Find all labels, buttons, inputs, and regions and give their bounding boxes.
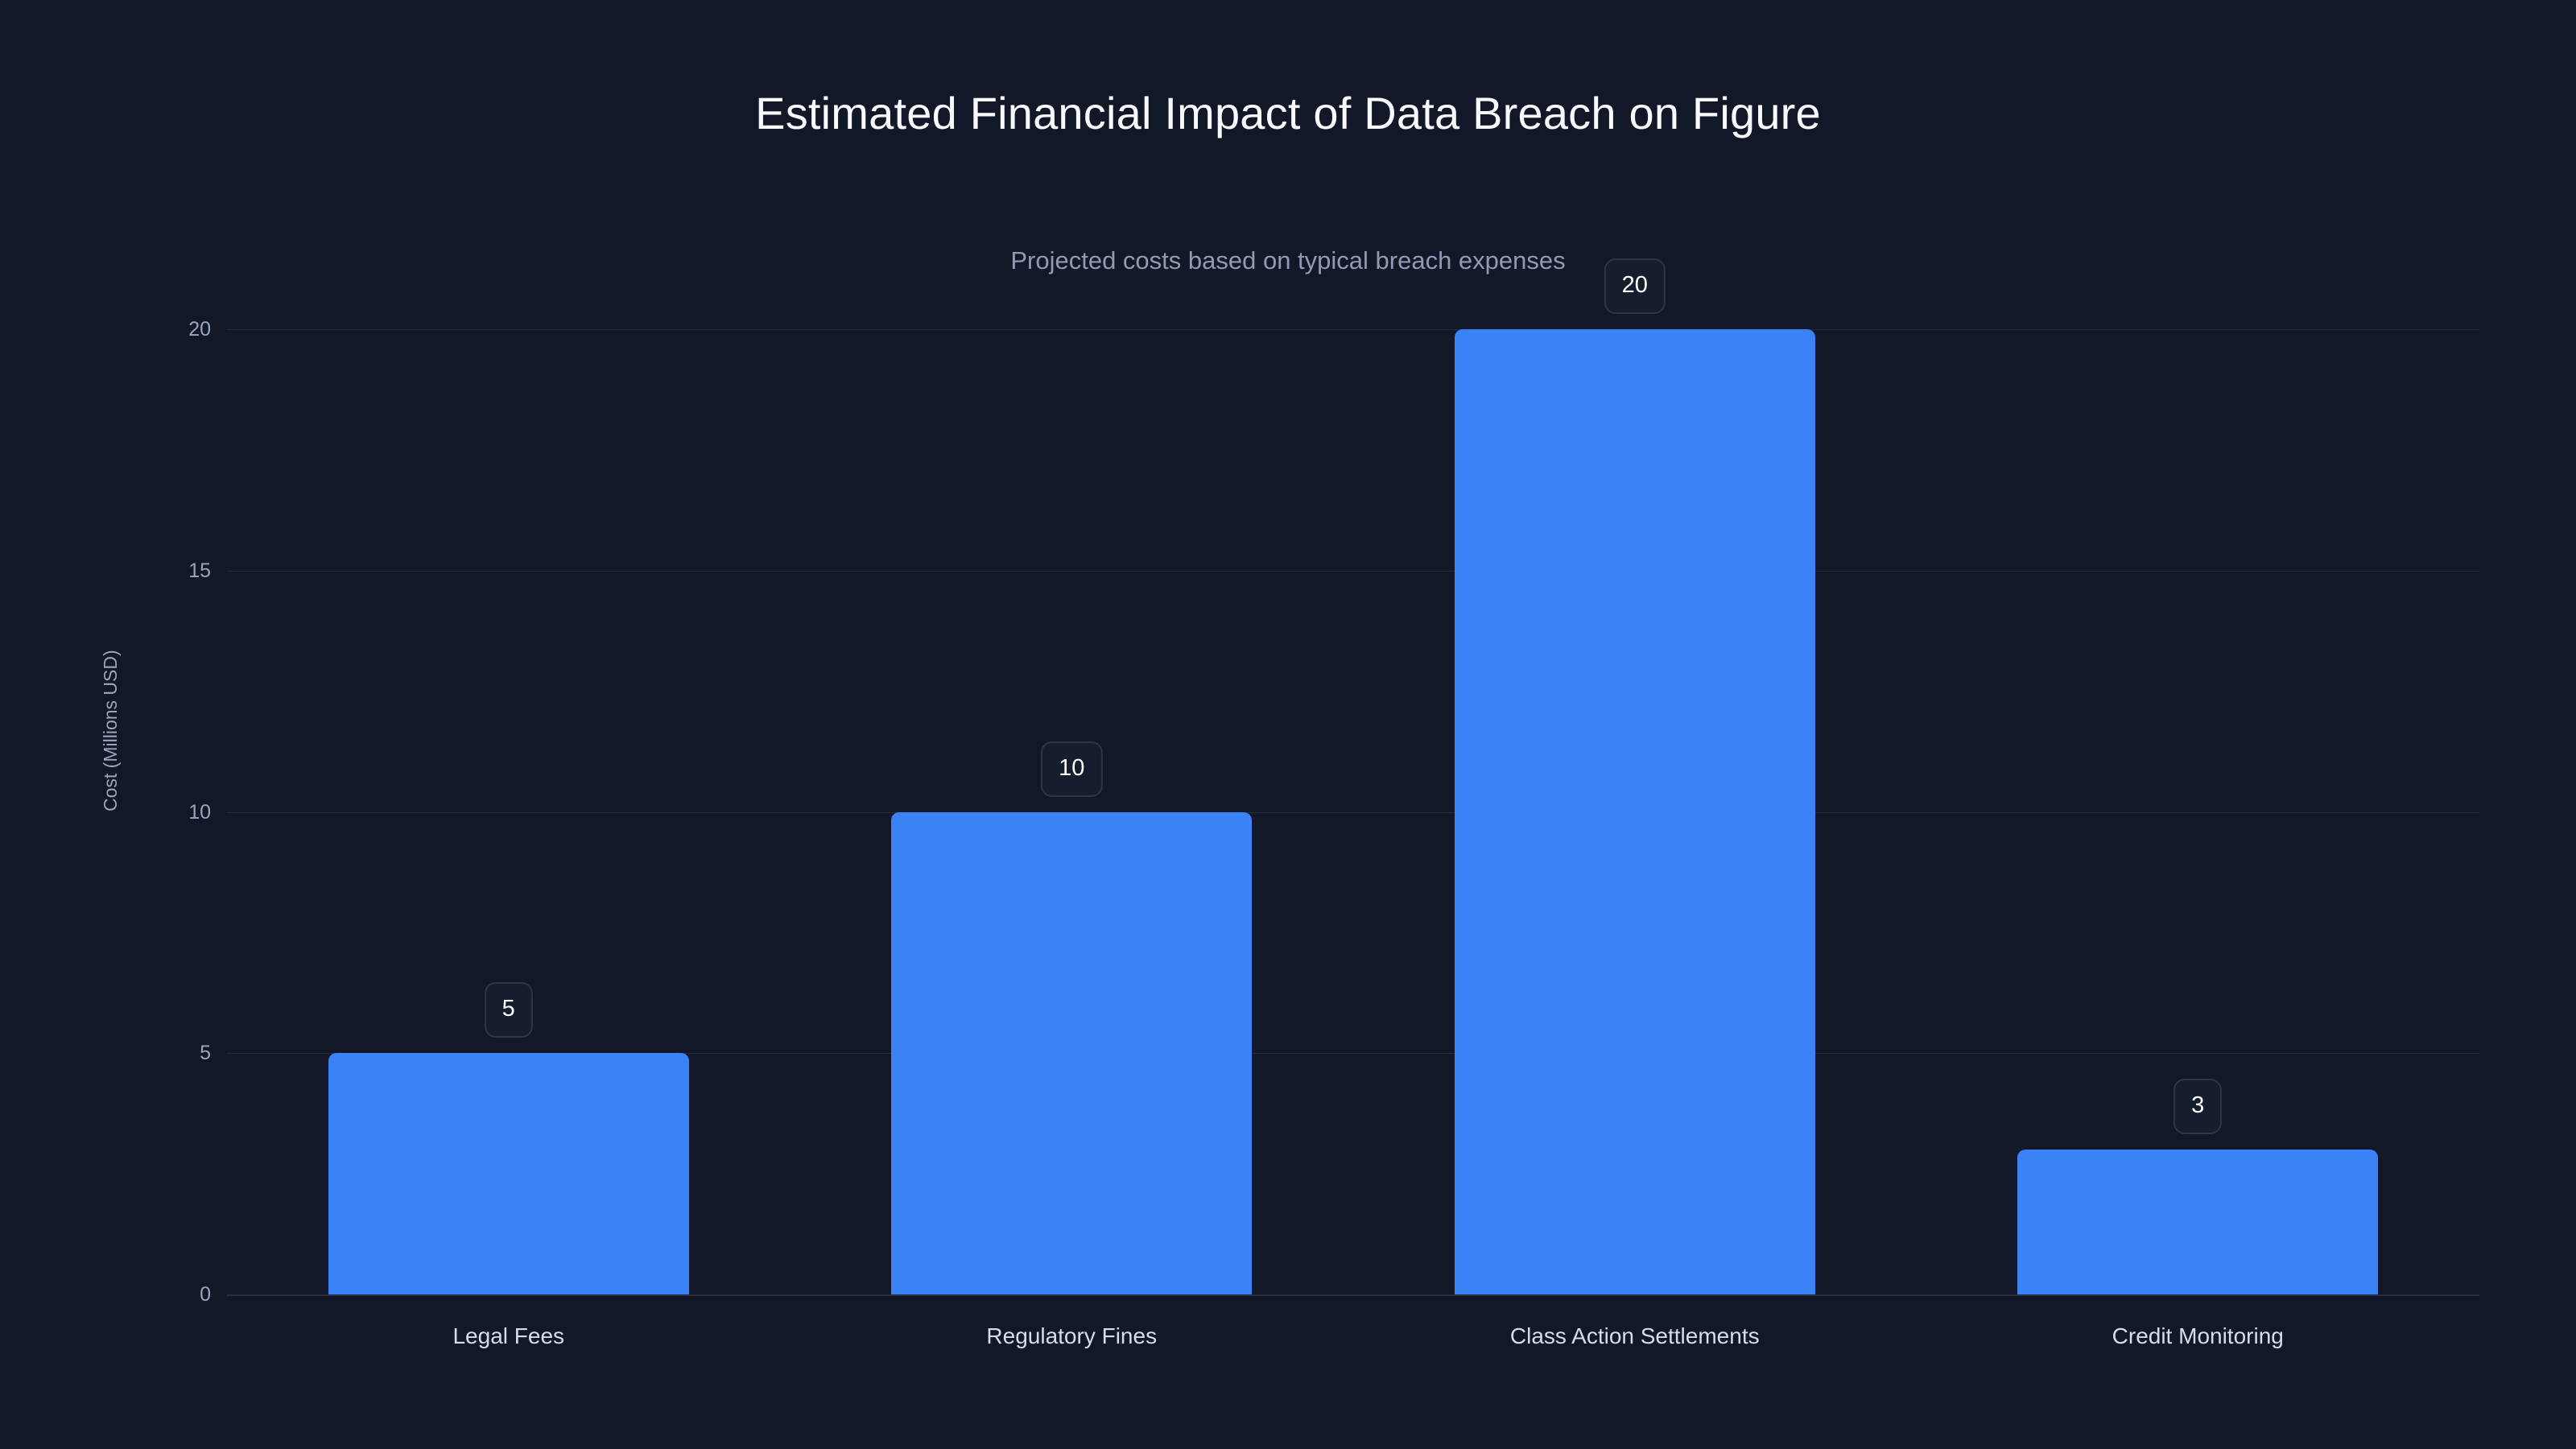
plot-area <box>227 329 2479 1294</box>
x-tick-label: Class Action Settlements <box>1510 1325 1760 1348</box>
bar[interactable] <box>2017 1150 2378 1294</box>
x-tick-label: Regulatory Fines <box>986 1325 1157 1348</box>
x-tick-label: Credit Monitoring <box>2112 1325 2284 1348</box>
chart-title: Estimated Financial Impact of Data Breac… <box>0 89 2576 138</box>
gridline-y-20 <box>227 329 2479 330</box>
y-tick-label: 10 <box>155 803 211 823</box>
bar-value-label: 3 <box>2173 1079 2222 1134</box>
chart-subtitle: Projected costs based on typical breach … <box>0 247 2576 275</box>
gridline-y-0 <box>227 1294 2479 1296</box>
bar[interactable] <box>891 812 1252 1295</box>
bar-value-label: 20 <box>1604 258 1666 314</box>
y-tick-label: 20 <box>155 320 211 340</box>
bar-value-label: 10 <box>1041 741 1102 797</box>
bar[interactable] <box>1455 329 1815 1294</box>
y-axis-title: Cost (Millions USD) <box>101 650 120 811</box>
bar-chart-figure: Estimated Financial Impact of Data Breac… <box>0 0 2576 1449</box>
x-tick-label: Legal Fees <box>452 1325 564 1348</box>
y-tick-label: 15 <box>155 561 211 581</box>
y-tick-label: 5 <box>155 1043 211 1063</box>
gridline-y-10 <box>227 812 2479 813</box>
gridline-y-15 <box>227 571 2479 572</box>
y-tick-label: 0 <box>155 1285 211 1305</box>
bar[interactable] <box>328 1053 689 1294</box>
bar-value-label: 5 <box>485 982 533 1038</box>
